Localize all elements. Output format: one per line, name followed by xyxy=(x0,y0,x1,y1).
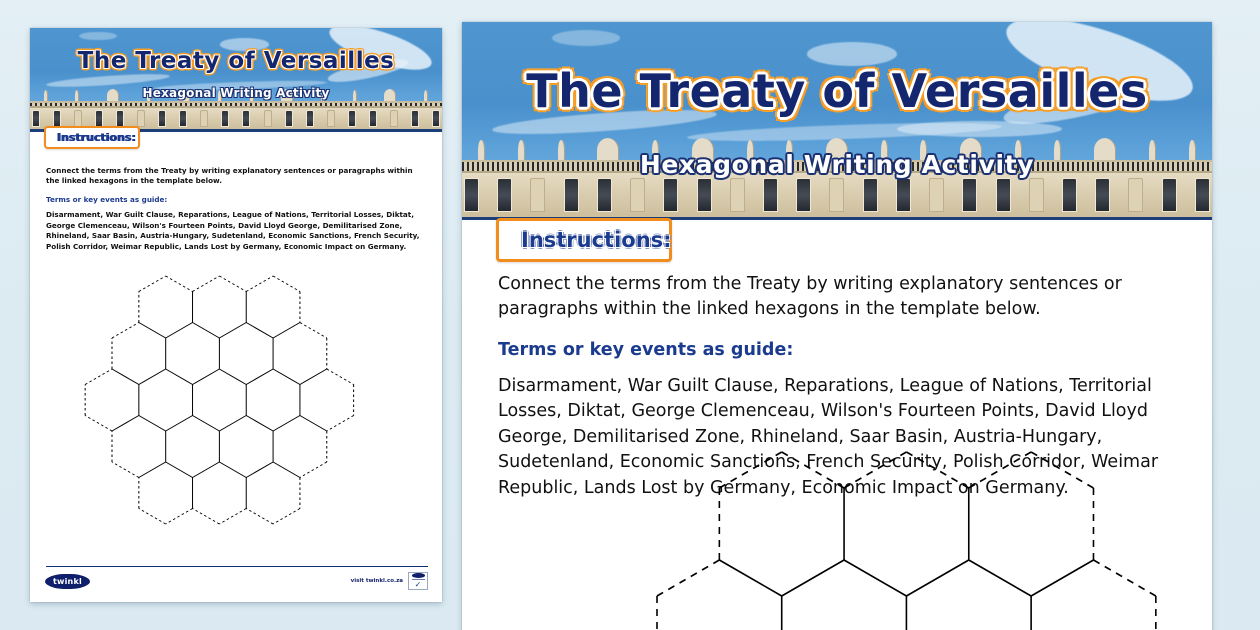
cloud-shape-icon xyxy=(897,121,1062,137)
honeycomb-svg xyxy=(30,271,442,583)
instructions-banner: Instructions: xyxy=(496,218,672,262)
palace-window xyxy=(242,110,250,127)
palace-window xyxy=(116,110,124,127)
palace-window xyxy=(1062,178,1077,212)
palace-pier xyxy=(1029,178,1044,212)
palace-balustrade xyxy=(30,101,442,108)
palace-window xyxy=(962,178,977,212)
badge-cloud-shape xyxy=(412,573,425,578)
palace-facade xyxy=(462,173,1212,220)
palace-window xyxy=(53,110,61,127)
palace-window xyxy=(564,178,579,212)
terms-list: Disarmament, War Guilt Clause, Reparatio… xyxy=(46,210,428,253)
palace-window xyxy=(996,178,1011,212)
palace-window xyxy=(411,110,419,127)
instructions-label: Instructions: xyxy=(521,228,672,252)
palace-pier xyxy=(730,178,745,212)
palace-window xyxy=(896,178,911,212)
worksheet-subtitle: Hexagonal Writing Activity xyxy=(30,86,442,100)
check-icon: ✓ xyxy=(415,581,422,589)
palace-window xyxy=(179,110,187,127)
palace-window xyxy=(1195,178,1210,212)
cloud-shape-icon xyxy=(552,30,620,46)
worksheet-footer: twinkl visit twinkl.co.za ✓ xyxy=(46,566,428,590)
instructions-banner: Instructions: xyxy=(44,126,140,149)
worksheet-subtitle: Hexagonal Writing Activity xyxy=(462,150,1212,179)
palace-window xyxy=(1162,178,1177,212)
palace-window xyxy=(285,110,293,127)
worksheet-title: The Treaty of Versailles xyxy=(30,48,442,74)
palace-window xyxy=(1095,178,1110,212)
instructions-label: Instructions: xyxy=(57,131,136,144)
palace-window-row xyxy=(30,110,442,127)
thumbnail-hero-banner: The Treaty of Versailles Hexagonal Writi… xyxy=(30,28,442,132)
twinkl-badge-icon: ✓ xyxy=(408,572,428,590)
terms-heading: Terms or key events as guide: xyxy=(46,195,428,204)
cloud-shape-icon xyxy=(807,42,897,66)
footer-right-group: visit twinkl.co.za ✓ xyxy=(351,572,428,590)
palace-window xyxy=(221,110,229,127)
instructions-paragraph: Connect the terms from the Treaty by wri… xyxy=(498,272,1178,322)
palace-window xyxy=(663,178,678,212)
worksheet-title: The Treaty of Versailles xyxy=(462,64,1212,118)
palace-pier xyxy=(630,178,645,212)
preview-hero-banner: The Treaty of Versailles Hexagonal Writi… xyxy=(462,22,1212,220)
palace-window xyxy=(369,110,377,127)
thumbnail-body: Connect the terms from the Treaty by wri… xyxy=(46,166,428,253)
palace-window xyxy=(158,110,166,127)
instructions-paragraph: Connect the terms from the Treaty by wri… xyxy=(46,166,428,187)
palace-window xyxy=(763,178,778,212)
worksheet-preview-card[interactable]: The Treaty of Versailles Hexagonal Writi… xyxy=(462,22,1212,630)
palace-window xyxy=(497,178,512,212)
palace-pier xyxy=(137,110,145,127)
palace-pier xyxy=(530,178,545,212)
cloud-shape-icon xyxy=(79,32,116,40)
palace-pier xyxy=(327,110,335,127)
palace-window xyxy=(32,110,40,127)
palace-window xyxy=(597,178,612,212)
palace-pier xyxy=(264,110,272,127)
palace-window xyxy=(464,178,479,212)
thumbnail-honeycomb xyxy=(30,271,442,583)
twinkl-logo[interactable]: twinkl xyxy=(46,574,89,589)
palace-window xyxy=(95,110,103,127)
palace-window xyxy=(863,178,878,212)
preview-honeycomb xyxy=(462,446,1212,630)
palace-window-row xyxy=(462,178,1212,212)
palace-pier xyxy=(200,110,208,127)
palace-pier xyxy=(1128,178,1143,212)
footer-url[interactable]: visit twinkl.co.za xyxy=(351,578,403,584)
palace-pier xyxy=(390,110,398,127)
palace-pier xyxy=(829,178,844,212)
worksheet-thumbnail-card[interactable]: The Treaty of Versailles Hexagonal Writi… xyxy=(30,28,442,602)
honeycomb-svg xyxy=(462,446,1212,630)
palace-pier xyxy=(929,178,944,212)
palace-window xyxy=(348,110,356,127)
palace-window xyxy=(306,110,314,127)
preview-stage: The Treaty of Versailles Hexagonal Writi… xyxy=(0,0,1260,630)
palace-window xyxy=(796,178,811,212)
terms-heading: Terms or key events as guide: xyxy=(498,340,1178,360)
palace-pier xyxy=(74,110,82,127)
palace-window xyxy=(697,178,712,212)
palace-window xyxy=(432,110,440,127)
